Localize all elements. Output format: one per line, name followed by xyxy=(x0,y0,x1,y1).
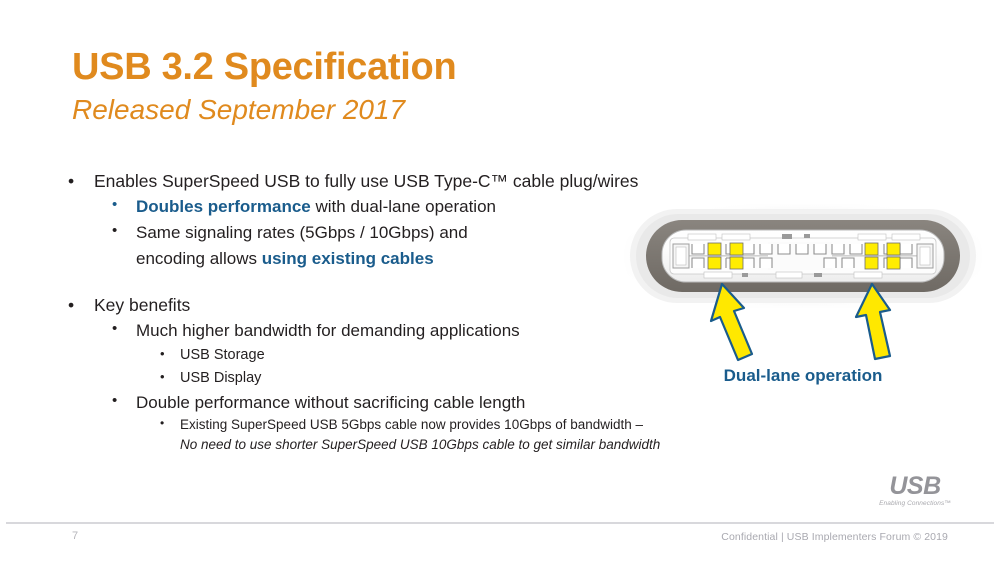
bullet-marker-icon: • xyxy=(112,220,117,243)
page-title: USB 3.2 Specification xyxy=(72,48,632,88)
usb-logo-tagline: Enabling Connections™ xyxy=(869,501,961,508)
bullet-marker-icon: • xyxy=(112,194,117,217)
bullet-text-emphasis: Doubles performance xyxy=(136,197,311,216)
bullet-text-line2: No need to use shorter SuperSpeed USB 10… xyxy=(180,437,660,452)
connector-tongue xyxy=(670,234,936,278)
bullet-text-line1: Same signaling rates (5Gbps / 10Gbps) an… xyxy=(136,223,468,242)
slide-canvas: USB 3.2 Specification Released September… xyxy=(0,0,1000,563)
footer-credit: Confidential | USB Implementers Forum © … xyxy=(721,531,948,543)
footer-divider xyxy=(6,522,994,524)
bullet-text: Enables SuperSpeed USB to fully use USB … xyxy=(94,168,858,194)
bullet-text-emphasis: using existing cables xyxy=(262,249,434,268)
usb-logo-wordmark: USB xyxy=(869,474,961,499)
bullet-text-line1: Existing SuperSpeed USB 5Gbps cable now … xyxy=(180,417,643,432)
title-block: USB 3.2 Specification Released September… xyxy=(72,48,632,126)
page-number: 7 xyxy=(72,530,78,542)
bullet-marker-icon: • xyxy=(160,415,164,432)
bullet-enables-superspeed: • Enables SuperSpeed USB to fully use US… xyxy=(68,168,858,194)
page-subtitle: Released September 2017 xyxy=(72,94,632,126)
bullet-marker-icon: • xyxy=(160,367,165,388)
usb-logo: USB Enabling Connections™ xyxy=(869,474,961,510)
bullet-marker-icon: • xyxy=(112,390,117,413)
dual-lane-operation-caption: Dual-lane operation xyxy=(618,366,988,386)
bullet-marker-icon: • xyxy=(68,168,74,194)
bullet-marker-icon: • xyxy=(68,292,74,318)
bullet-text-line2-prefix: encoding allows xyxy=(136,249,262,268)
bullet-marker-icon: • xyxy=(160,344,165,365)
bullet-text: Existing SuperSpeed USB 5Gbps cable now … xyxy=(180,415,858,453)
bullet-text-rest: with dual-lane operation xyxy=(311,197,496,216)
bullet-existing-cable-note: • Existing SuperSpeed USB 5Gbps cable no… xyxy=(68,415,858,453)
bullet-marker-icon: • xyxy=(112,318,117,341)
